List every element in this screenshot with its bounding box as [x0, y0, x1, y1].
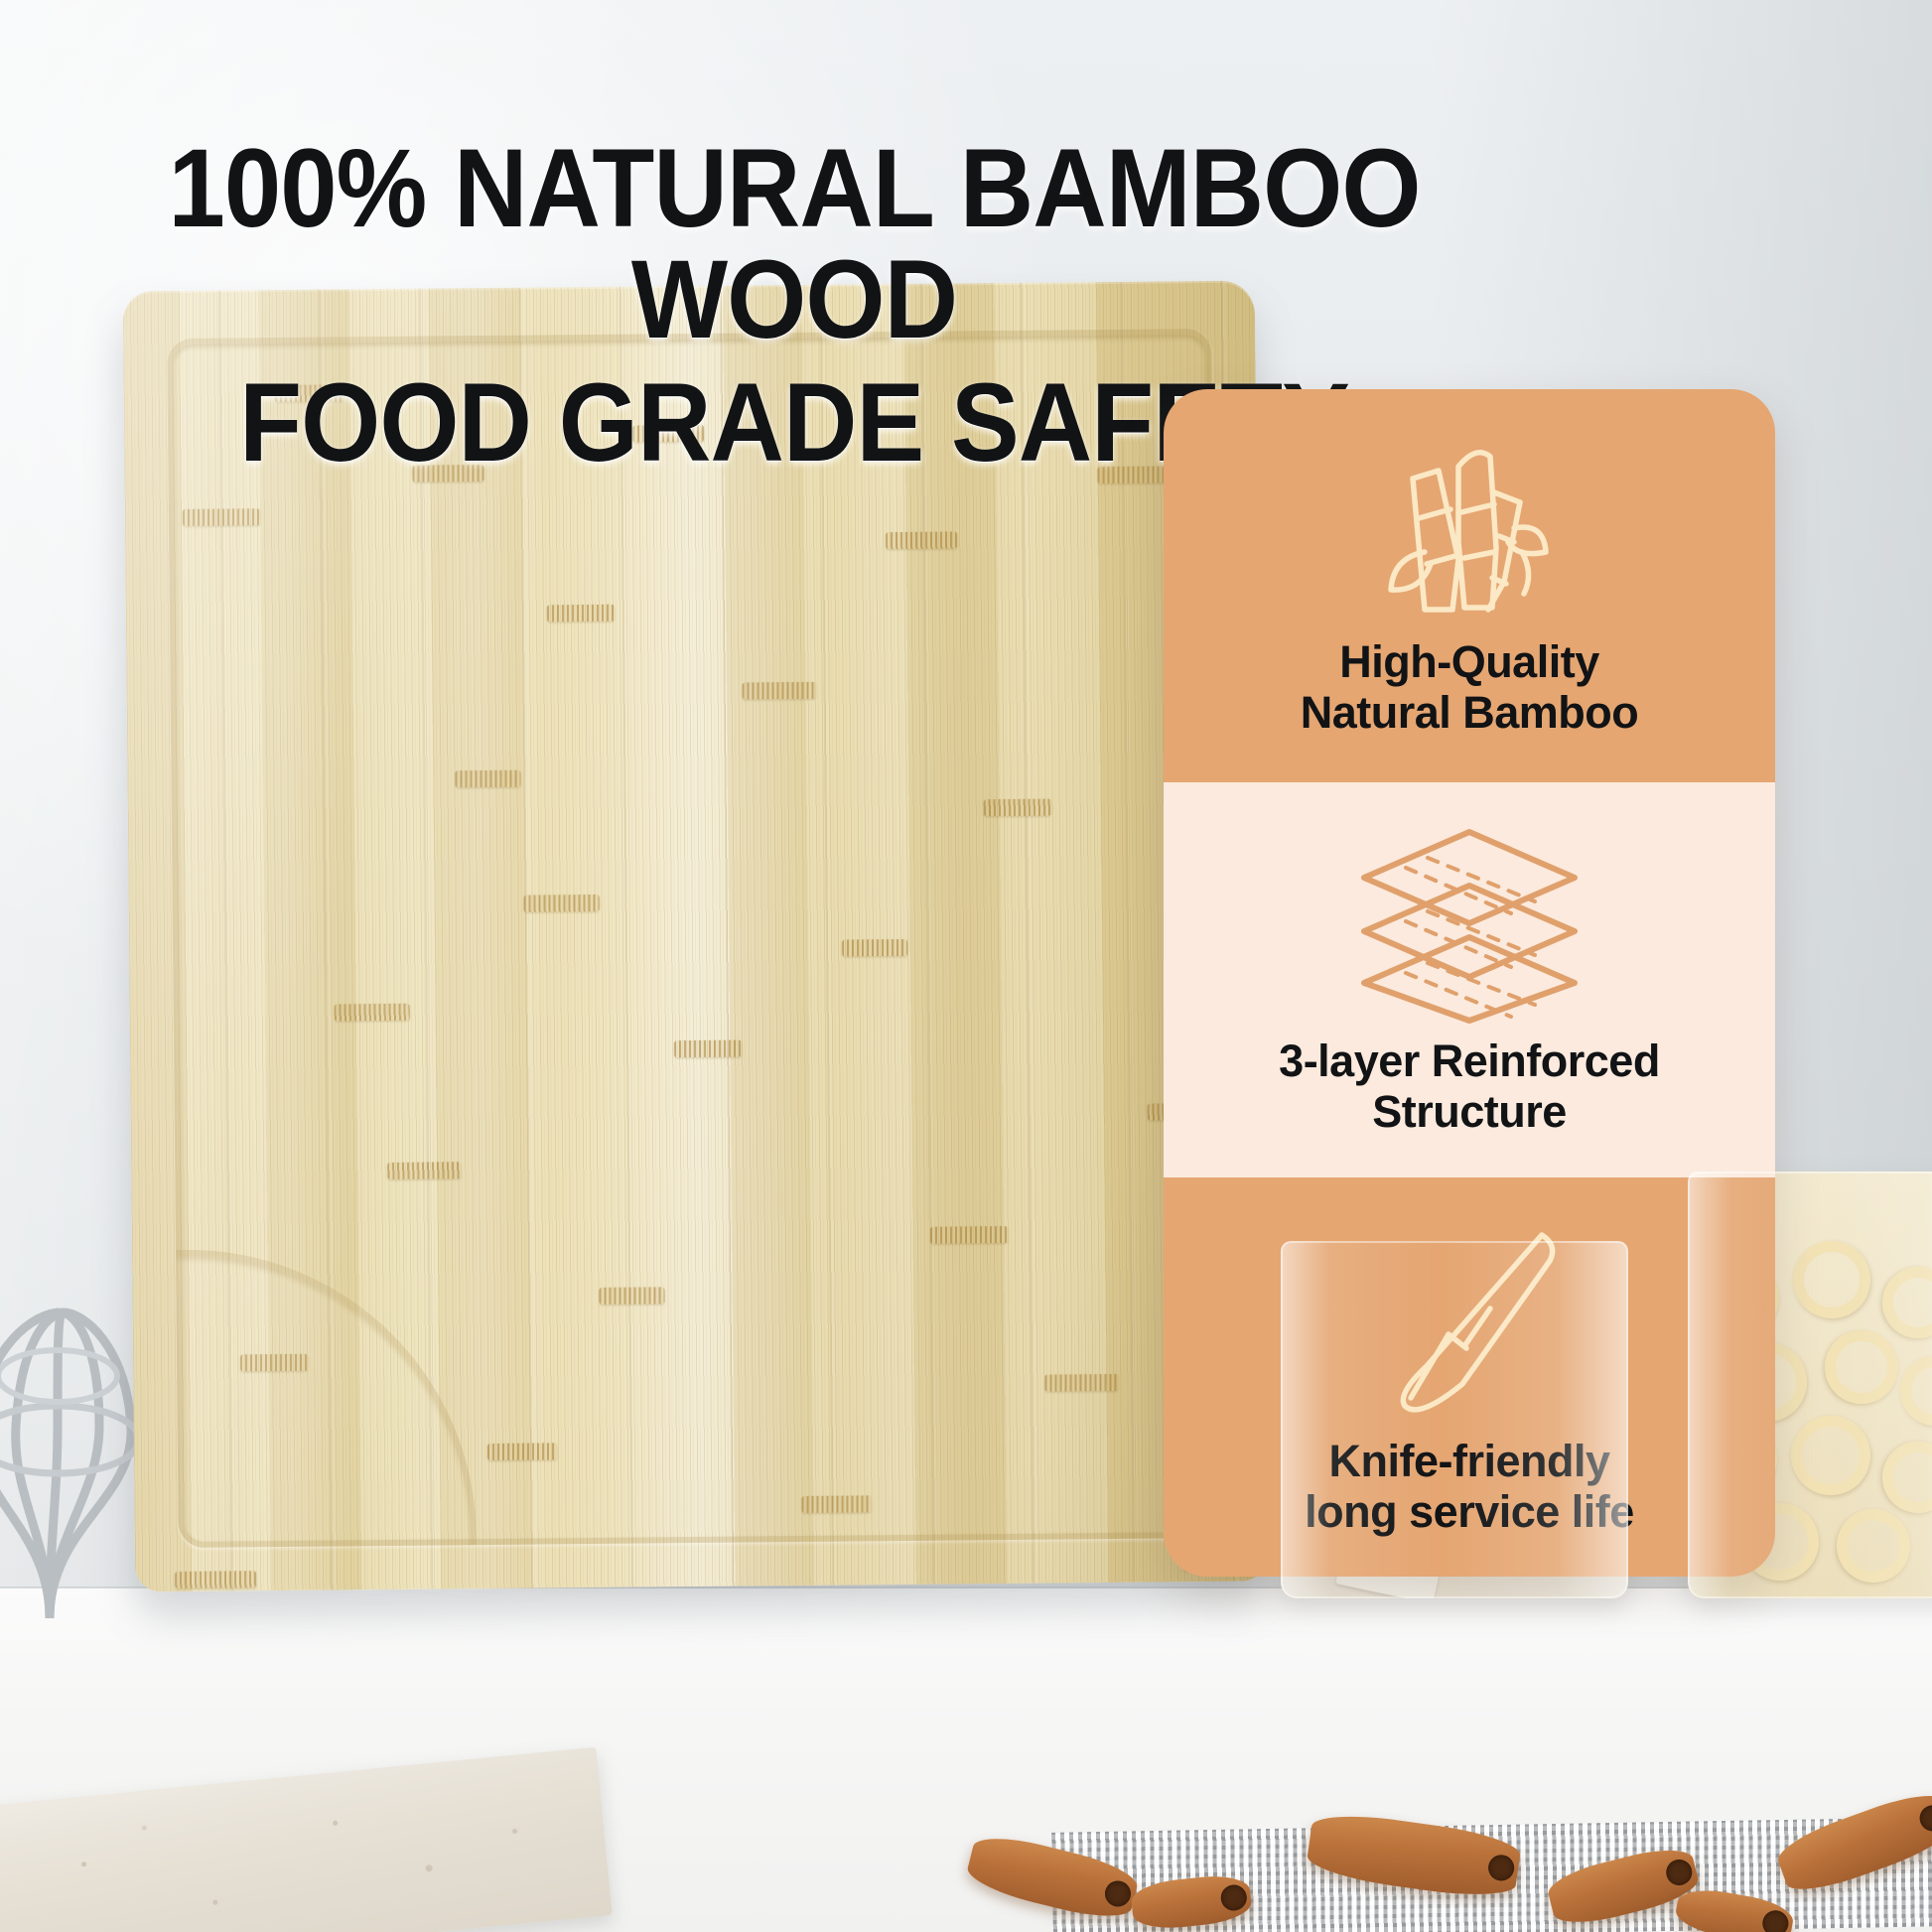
chef-knife-icon [1345, 1217, 1593, 1431]
bamboo-node-mark [175, 1571, 256, 1588]
headline-line-1: 100% NATURAL BAMBOO WOOD [168, 126, 1420, 361]
feature-card-label: 3-layer Reinforced Structure [1261, 1036, 1678, 1138]
feature-card-three-layer-reinforced-structure[interactable]: 3-layer Reinforced Structure [1164, 782, 1775, 1177]
feature-card-high-quality-natural-bamboo[interactable]: High-Quality Natural Bamboo [1164, 389, 1775, 782]
feature-card-label: High-Quality Natural Bamboo [1283, 637, 1657, 739]
bamboo-stalks-icon [1355, 433, 1584, 631]
feature-card-label: Knife-friendly long service life [1287, 1437, 1652, 1538]
product-scene: 100% NATURAL BAMBOO WOOD FOOD GRADE SAFE… [0, 0, 1932, 1932]
stacked-layers-icon [1350, 822, 1588, 1031]
feature-card-knife-friendly-long-service-life[interactable]: Knife-friendly long service life [1164, 1177, 1775, 1577]
feature-panel: High-Quality Natural Bamboo 3-laye [1164, 389, 1775, 1577]
